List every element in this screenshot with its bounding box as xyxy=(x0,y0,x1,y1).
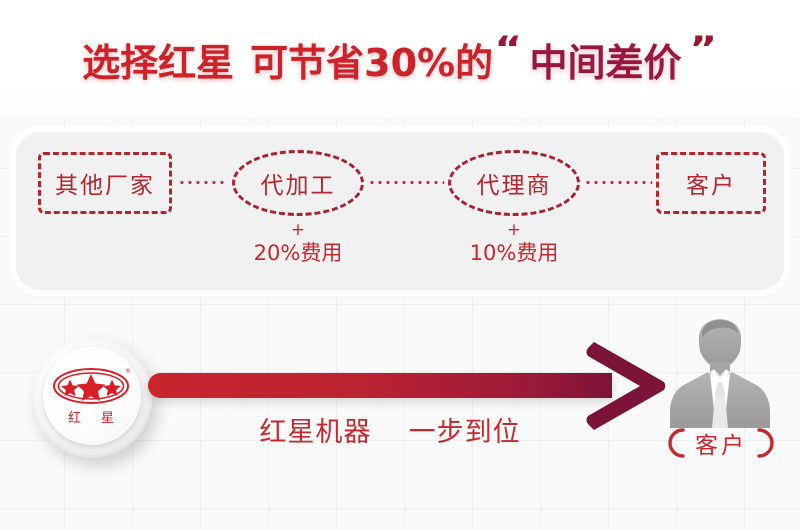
headline-part1: 选择红星 xyxy=(82,32,234,87)
flow-node-oem-label: 代加工 xyxy=(261,166,336,200)
bracket-left-icon xyxy=(667,427,685,459)
svg-text:星: 星 xyxy=(101,411,114,426)
svg-text:®: ® xyxy=(125,368,131,375)
flow-diagram: 其他厂家 代加工 代理商 客户 + 20%费用 + 10%费用 xyxy=(16,132,784,290)
customer-avatar-icon xyxy=(658,316,782,428)
flow-node-other-factory-label: 其他厂家 xyxy=(55,166,155,200)
fee-amount-1: 20%费用 xyxy=(198,240,398,266)
flow-node-customer-label: 客户 xyxy=(686,166,736,200)
infographic-canvas: 选择红星 可节省30%的 “ 中间差价 ” 其他厂家 代加工 代理商 客户 xyxy=(0,0,800,530)
middleman-flow-panel: 其他厂家 代加工 代理商 客户 + 20%费用 + 10%费用 xyxy=(16,132,784,290)
quote-close-mark: ” xyxy=(689,29,717,69)
headline-highlight: 中间差价 xyxy=(529,32,681,87)
customer-tag: 客户 xyxy=(648,424,794,462)
fee-plus-sign-2: + xyxy=(414,222,614,239)
fee-plus-sign-1: + xyxy=(198,222,398,239)
flow-node-oem: 代加工 xyxy=(232,150,364,216)
arrow-caption-part2: 一步到位 xyxy=(409,417,521,448)
flow-connector-2 xyxy=(368,181,444,184)
flow-node-customer: 客户 xyxy=(656,152,766,214)
arrow-shaft xyxy=(148,373,612,398)
quote-open-mark: “ xyxy=(494,29,522,69)
bracket-right-icon xyxy=(757,427,775,459)
arrow-caption-part1: 红星机器 xyxy=(259,417,371,448)
fee-markup-agent: + 10%费用 xyxy=(414,222,614,266)
flow-node-agent: 代理商 xyxy=(448,150,580,216)
page-title: 选择红星 可节省30%的 “ 中间差价 ” xyxy=(0,28,800,90)
flow-node-other-factory: 其他厂家 xyxy=(38,152,172,214)
svg-text:红: 红 xyxy=(68,410,81,426)
brand-logo-badge: ® 红 星 xyxy=(32,338,158,464)
flow-connector-3 xyxy=(584,181,652,184)
fee-amount-2: 10%费用 xyxy=(414,240,614,266)
headline-part2: 可节省30%的 xyxy=(250,32,493,87)
fee-markup-oem: + 20%费用 xyxy=(198,222,398,266)
flow-node-agent-label: 代理商 xyxy=(477,166,552,200)
hongxing-logo-icon: ® 红 星 xyxy=(51,360,131,432)
customer-tag-label: 客户 xyxy=(695,426,747,460)
flow-connector-1 xyxy=(178,181,228,184)
arrow-caption: 红星机器 一步到位 xyxy=(180,410,600,449)
